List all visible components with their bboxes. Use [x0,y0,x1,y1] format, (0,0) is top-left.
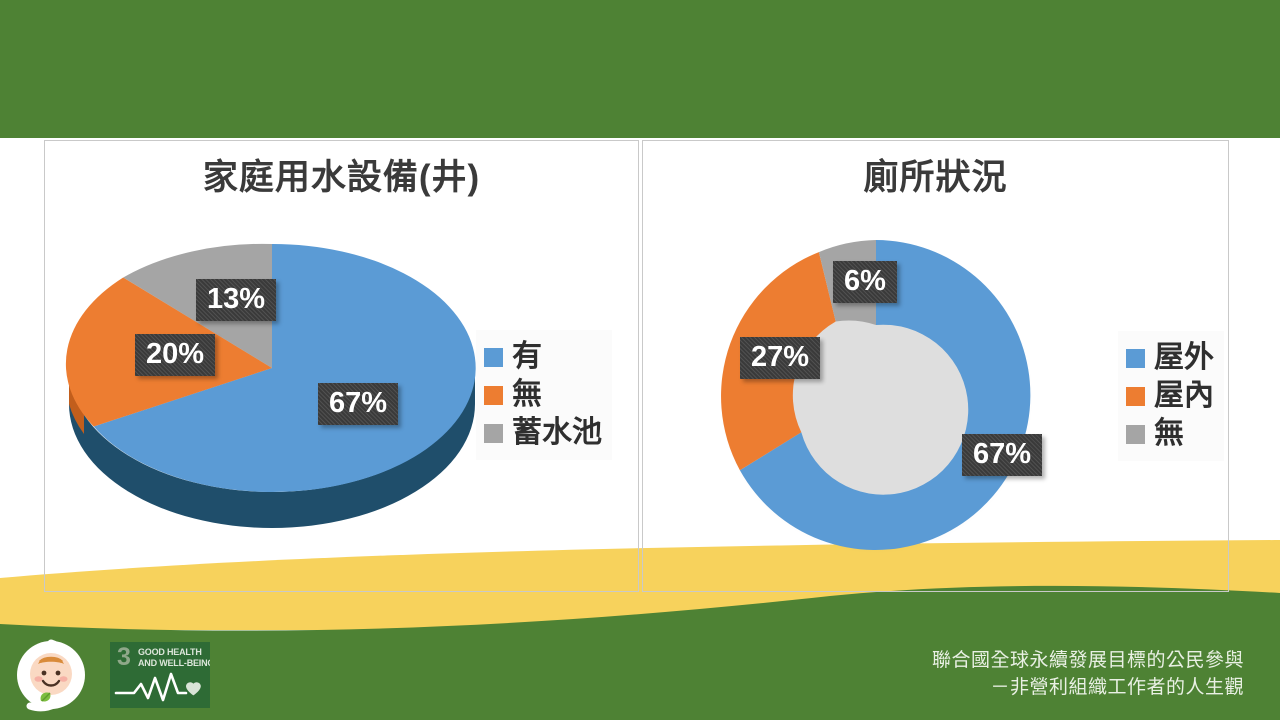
legend-item-無[interactable]: 無 [1126,415,1214,453]
chart-title-household-water: 家庭用水設備(井) [45,149,638,200]
legend-item-蓄水池[interactable]: 蓄水池 [484,414,602,452]
legend-swatch-orange-icon [484,386,503,405]
legend-swatch-gray-icon [1126,425,1145,444]
legend-household-water[interactable]: 有 無 蓄水池 [476,330,612,460]
sdg-goal-3-logo: 3 GOOD HEALTH AND WELL-BEING [110,642,210,708]
data-label-household-有: 67% [318,383,398,425]
legend-swatch-gray-icon [484,424,503,443]
sdg-text: GOOD HEALTH AND WELL-BEING [138,647,210,668]
presentation-slide: 柬埔寨Pro-hut 綠蘋果幼兒園 學生家庭衛生設備狀況 (19名) 家庭用水設… [0,0,1280,720]
legend-swatch-orange-icon [1126,387,1145,406]
chart-title-toilet: 廁所狀況 [643,149,1228,200]
legend-swatch-blue-icon [1126,349,1145,368]
header-band [0,0,1280,138]
legend-item-屋內[interactable]: 屋內 [1126,377,1214,415]
legend-label-屋內: 屋內 [1154,381,1214,411]
footer-caption: 聯合國全球永續發展目標的公民參與 －非營利組織工作者的人生觀 [932,648,1244,702]
data-label-household-無: 20% [135,334,215,376]
data-label-household-蓄水池: 13% [196,279,276,321]
footer-caption-line-2: －非營利組織工作者的人生觀 [932,675,1244,702]
legend-item-屋外[interactable]: 屋外 [1126,339,1214,377]
pie-chart-svg [62,208,482,538]
legend-label-蓄水池: 蓄水池 [512,418,602,448]
baby-logo [14,638,88,712]
data-label-toilet-無: 6% [833,261,897,303]
data-label-toilet-屋內: 27% [740,337,820,379]
heartbeat-icon [114,672,206,704]
legend-toilet[interactable]: 屋外 屋內 無 [1118,331,1224,461]
legend-swatch-blue-icon [484,348,503,367]
legend-item-無[interactable]: 無 [484,376,602,414]
legend-item-有[interactable]: 有 [484,338,602,376]
footer-caption-line-1: 聯合國全球永續發展目標的公民參與 [932,648,1244,675]
pie-chart-household-water[interactable] [62,208,482,538]
sdg-number: 3 [117,645,131,670]
legend-label-無: 無 [1154,419,1184,449]
legend-label-有: 有 [512,342,542,372]
data-label-toilet-屋外: 67% [962,434,1042,476]
sdg-text-line-2: AND WELL-BEING [138,658,210,669]
sdg-text-line-1: GOOD HEALTH [138,647,210,658]
legend-label-無: 無 [512,380,542,410]
legend-label-屋外: 屋外 [1154,343,1214,373]
